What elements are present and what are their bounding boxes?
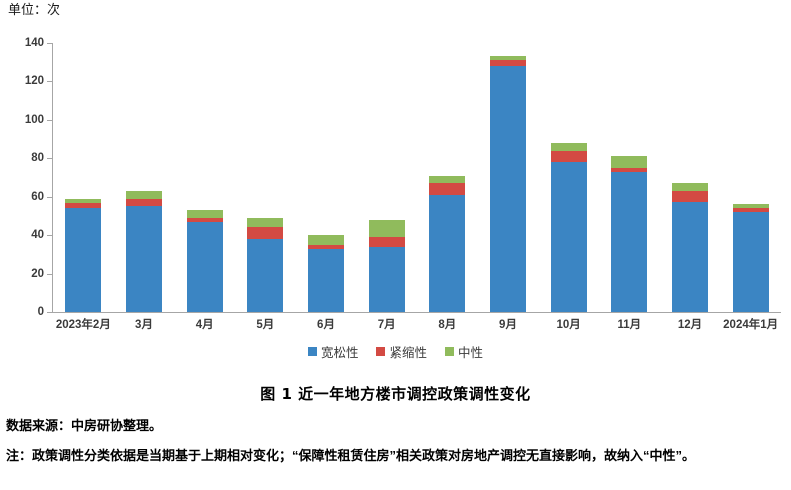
legend-swatch-icon <box>445 347 454 356</box>
x-axis-tick-label: 6月 <box>317 316 335 332</box>
bar-segment-宽松性[interactable] <box>65 208 101 312</box>
bar-group[interactable] <box>53 43 114 312</box>
bar-segment-紧缩性[interactable] <box>369 237 405 247</box>
x-axis-line <box>52 312 781 313</box>
bar-segment-紧缩性[interactable] <box>126 199 162 207</box>
x-axis-tick-labels: 2023年2月3月4月5月6月7月8月9月10月11月12月2024年1月 <box>53 316 781 336</box>
x-axis-tick-label: 10月 <box>557 316 581 332</box>
bar-group[interactable] <box>174 43 235 312</box>
bar-segment-宽松性[interactable] <box>551 162 587 312</box>
y-axis-tick-mark <box>47 197 52 198</box>
bar-group[interactable] <box>114 43 175 312</box>
bar-group[interactable] <box>296 43 357 312</box>
x-axis-tick-label: 9月 <box>499 316 517 332</box>
x-axis-tick-label: 12月 <box>678 316 702 332</box>
unit-label: 单位：次 <box>8 2 60 18</box>
legend-item[interactable]: 宽松性 <box>308 342 359 361</box>
legend-label: 宽松性 <box>321 342 359 361</box>
stacked-bar[interactable] <box>65 199 101 312</box>
y-axis-tick-label: 140 <box>8 38 44 48</box>
bar-segment-宽松性[interactable] <box>247 239 283 312</box>
bar-segment-紧缩性[interactable] <box>247 227 283 239</box>
bar-segment-宽松性[interactable] <box>733 212 769 312</box>
bar-group[interactable] <box>538 43 599 312</box>
bar-segment-中性[interactable] <box>126 191 162 199</box>
y-axis-tick-label: 100 <box>8 115 44 125</box>
footnote: 注：政策调性分类依据是当期基于上期相对变化；“保障性租赁住房”相关政策对房地产调… <box>6 443 786 468</box>
x-axis-tick-label: 3月 <box>135 316 153 332</box>
legend-item[interactable]: 紧缩性 <box>376 342 427 361</box>
y-axis-tick-mark <box>47 81 52 82</box>
bar-group[interactable] <box>720 43 781 312</box>
bar-group[interactable] <box>478 43 539 312</box>
stacked-bar[interactable] <box>551 143 587 312</box>
x-axis-tick-label: 7月 <box>378 316 396 332</box>
bar-segment-中性[interactable] <box>369 220 405 237</box>
y-axis-tick-label: 0 <box>8 307 44 317</box>
y-axis-tick-mark <box>47 120 52 121</box>
bar-segment-紧缩性[interactable] <box>429 183 465 195</box>
y-axis-tick-label: 120 <box>8 76 44 86</box>
bar-group[interactable] <box>356 43 417 312</box>
legend-label: 紧缩性 <box>389 342 427 361</box>
bar-segment-中性[interactable] <box>429 176 465 184</box>
bar-group[interactable] <box>660 43 721 312</box>
legend-swatch-icon <box>308 347 317 356</box>
bar-segment-宽松性[interactable] <box>308 249 344 312</box>
y-axis-tick-label: 20 <box>8 269 44 279</box>
stacked-bar[interactable] <box>733 204 769 312</box>
stacked-bar[interactable] <box>247 218 283 312</box>
y-axis-tick-label: 80 <box>8 153 44 163</box>
figure-caption: 图 1 近一年地方楼市调控政策调性变化 <box>0 383 791 404</box>
legend-item[interactable]: 中性 <box>445 342 483 361</box>
chart-legend: 宽松性紧缩性中性 <box>0 342 791 361</box>
x-axis-tick-label: 4月 <box>196 316 214 332</box>
bar-chart: 020406080100120140 2023年2月3月4月5月6月7月8月9月… <box>0 36 791 336</box>
bar-segment-中性[interactable] <box>551 143 587 151</box>
bar-segment-宽松性[interactable] <box>672 202 708 312</box>
stacked-bar[interactable] <box>611 156 647 312</box>
x-axis-tick-label: 5月 <box>256 316 274 332</box>
bar-segment-宽松性[interactable] <box>187 222 223 312</box>
plot-area <box>53 43 781 312</box>
stacked-bar[interactable] <box>187 210 223 312</box>
stacked-bar[interactable] <box>369 220 405 312</box>
stacked-bar[interactable] <box>308 235 344 312</box>
bar-segment-中性[interactable] <box>611 156 647 168</box>
bar-segment-紧缩性[interactable] <box>551 151 587 163</box>
y-axis-tick-labels: 020406080100120140 <box>0 36 44 336</box>
y-axis-tick-mark <box>47 235 52 236</box>
bar-segment-宽松性[interactable] <box>611 172 647 312</box>
bar-segment-紧缩性[interactable] <box>672 191 708 203</box>
y-axis-tick-label: 40 <box>8 230 44 240</box>
bar-segment-宽松性[interactable] <box>126 206 162 312</box>
source-note: 数据来源：中房研协整理。 <box>6 415 162 434</box>
stacked-bar[interactable] <box>126 191 162 312</box>
bar-group[interactable] <box>599 43 660 312</box>
bar-segment-中性[interactable] <box>247 218 283 228</box>
x-axis-tick-label: 8月 <box>438 316 456 332</box>
bar-group[interactable] <box>417 43 478 312</box>
stacked-bar[interactable] <box>490 56 526 312</box>
y-axis-tick-mark <box>47 43 52 44</box>
bar-segment-中性[interactable] <box>308 235 344 245</box>
y-axis-tick-label: 60 <box>8 192 44 202</box>
x-axis-tick-label: 2024年1月 <box>723 316 778 332</box>
legend-label: 中性 <box>458 342 483 361</box>
bar-segment-宽松性[interactable] <box>369 247 405 312</box>
bar-group[interactable] <box>235 43 296 312</box>
bar-segment-中性[interactable] <box>672 183 708 191</box>
legend-swatch-icon <box>376 347 385 356</box>
bar-segment-宽松性[interactable] <box>490 66 526 312</box>
stacked-bar[interactable] <box>429 176 465 312</box>
bar-segment-宽松性[interactable] <box>429 195 465 312</box>
bar-segment-中性[interactable] <box>187 210 223 218</box>
y-axis-tick-mark <box>47 158 52 159</box>
x-axis-tick-label: 11月 <box>617 316 641 332</box>
y-axis-tick-mark <box>47 274 52 275</box>
stacked-bar[interactable] <box>672 183 708 312</box>
y-axis-tick-mark <box>47 312 52 313</box>
x-axis-tick-label: 2023年2月 <box>56 316 111 332</box>
